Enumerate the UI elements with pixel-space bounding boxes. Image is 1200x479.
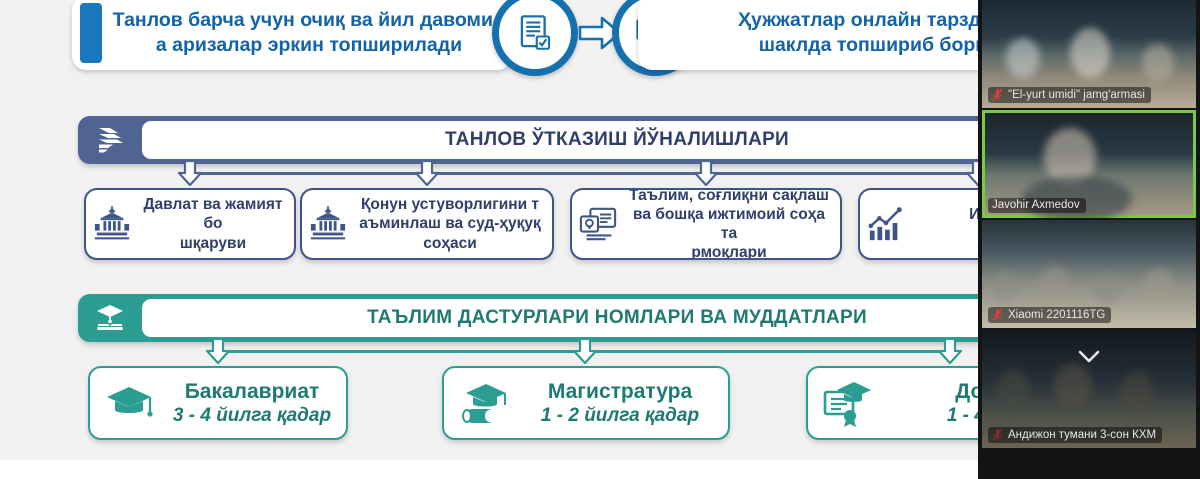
participant-label: Андижон тумани 3-сон КХМ bbox=[988, 427, 1162, 443]
striped-arrow-icon bbox=[78, 124, 142, 156]
program-name: Магистратура bbox=[522, 379, 718, 404]
courthouse-icon bbox=[302, 205, 354, 243]
program-duration: 3 - 4 йилга қадар bbox=[168, 404, 336, 428]
video-tile-active-speaker[interactable]: Javohir Axmedov bbox=[982, 110, 1196, 218]
down-arrow-icon bbox=[205, 338, 231, 364]
down-arrow-icon bbox=[414, 160, 440, 186]
mic-muted-icon bbox=[992, 88, 1003, 101]
participant-label: Javohir Axmedov bbox=[988, 198, 1086, 213]
banner-open-competition: Танлов барча учун очиқ ва йил давомид а … bbox=[72, 0, 512, 70]
participant-name: Javohir Axmedov bbox=[992, 199, 1080, 211]
bar-chart-growth-icon bbox=[860, 205, 912, 243]
participant-label: "El-yurt umidi" jamg'armasi bbox=[988, 87, 1151, 103]
participant-name: Xiaomi 2201116TG bbox=[1008, 309, 1105, 321]
diploma-cap-icon bbox=[444, 378, 522, 428]
banner-row: Танлов барча учун очиқ ва йил давомид а … bbox=[0, 0, 1010, 88]
down-arrow-icon bbox=[572, 338, 598, 364]
video-tile[interactable]: "El-yurt umidi" jamg'armasi bbox=[982, 0, 1196, 108]
education-health-icon bbox=[572, 205, 624, 243]
section-title-box: ТАНЛОВ ЎТКАЗИШ ЙЎНАЛИШЛАРИ bbox=[142, 121, 1092, 159]
participant-label: Xiaomi 2201116TG bbox=[988, 307, 1111, 323]
graduate-book-icon bbox=[78, 302, 142, 334]
program-duration: 1 - 2 йилга қадар bbox=[522, 404, 718, 428]
participant-name: "El-yurt umidi" jamg'armasi bbox=[1008, 89, 1145, 101]
direction-card: Таълим, соғлиқни сақлаш ва бошқа ижтимои… bbox=[570, 188, 842, 260]
government-building-icon bbox=[86, 205, 138, 243]
certificate-cap-icon bbox=[808, 378, 886, 428]
program-text: Магистратура 1 - 2 йилга қадар bbox=[522, 379, 728, 428]
section-header-programs: ТАЪЛИМ ДАСТУРЛАРИ НОМЛАРИ ВА МУДДАТЛАРИ bbox=[78, 294, 1098, 342]
chevron-down-icon[interactable] bbox=[1078, 350, 1100, 363]
direction-label: Қонун устуворлигини т аъминлаш ва суд-ҳу… bbox=[354, 195, 552, 253]
program-name: Бакалавриат bbox=[168, 379, 336, 404]
down-arrow-icon bbox=[693, 160, 719, 186]
graduation-cap-icon bbox=[90, 378, 168, 428]
program-card: Магистратура 1 - 2 йилга қадар bbox=[442, 366, 730, 440]
mic-muted-icon bbox=[992, 308, 1003, 321]
direction-card: Қонун устуворлигини т аъминлаш ва суд-ҳу… bbox=[300, 188, 554, 260]
connector-rail bbox=[190, 172, 980, 175]
participant-name: Андижон тумани 3-сон КХМ bbox=[1008, 429, 1156, 441]
down-arrow-icon bbox=[177, 160, 203, 186]
video-participant-strip[interactable]: "El-yurt umidi" jamg'armasi Javohir Axme… bbox=[978, 0, 1200, 479]
slide-with-video-overlay: Танлов барча учун очиқ ва йил давомид а … bbox=[0, 0, 1200, 479]
program-text: Бакалавриат 3 - 4 йилга қадар bbox=[168, 379, 346, 428]
program-card: Бакалавриат 3 - 4 йилга қадар bbox=[88, 366, 348, 440]
direction-card: Давлат ва жамият бо шқаруви bbox=[84, 188, 296, 260]
section-title: ТАНЛОВ ЎТКАЗИШ ЙЎНАЛИШЛАРИ bbox=[445, 129, 789, 151]
down-arrow-icon bbox=[937, 338, 963, 364]
video-tile[interactable]: Xiaomi 2201116TG bbox=[982, 220, 1196, 328]
direction-label: Таълим, соғлиқни сақлаш ва бошқа ижтимои… bbox=[624, 188, 840, 260]
mic-muted-icon bbox=[992, 428, 1003, 441]
banner-text: Танлов барча учун очиқ ва йил давомид а … bbox=[102, 8, 512, 58]
document-check-icon bbox=[492, 0, 578, 76]
banner-accent-bar bbox=[80, 3, 102, 63]
direction-label: Давлат ва жамият бо шқаруви bbox=[138, 195, 294, 253]
section-title: ТАЪЛИМ ДАСТУРЛАРИ НОМЛАРИ ВА МУДДАТЛАРИ bbox=[367, 307, 867, 329]
section-header-directions: ТАНЛОВ ЎТКАЗИШ ЙЎНАЛИШЛАРИ bbox=[78, 116, 1098, 164]
video-tile[interactable]: Андижон тумани 3-сон КХМ bbox=[982, 330, 1196, 448]
section-title-box: ТАЪЛИМ ДАСТУРЛАРИ НОМЛАРИ ВА МУДДАТЛАРИ bbox=[142, 299, 1092, 337]
